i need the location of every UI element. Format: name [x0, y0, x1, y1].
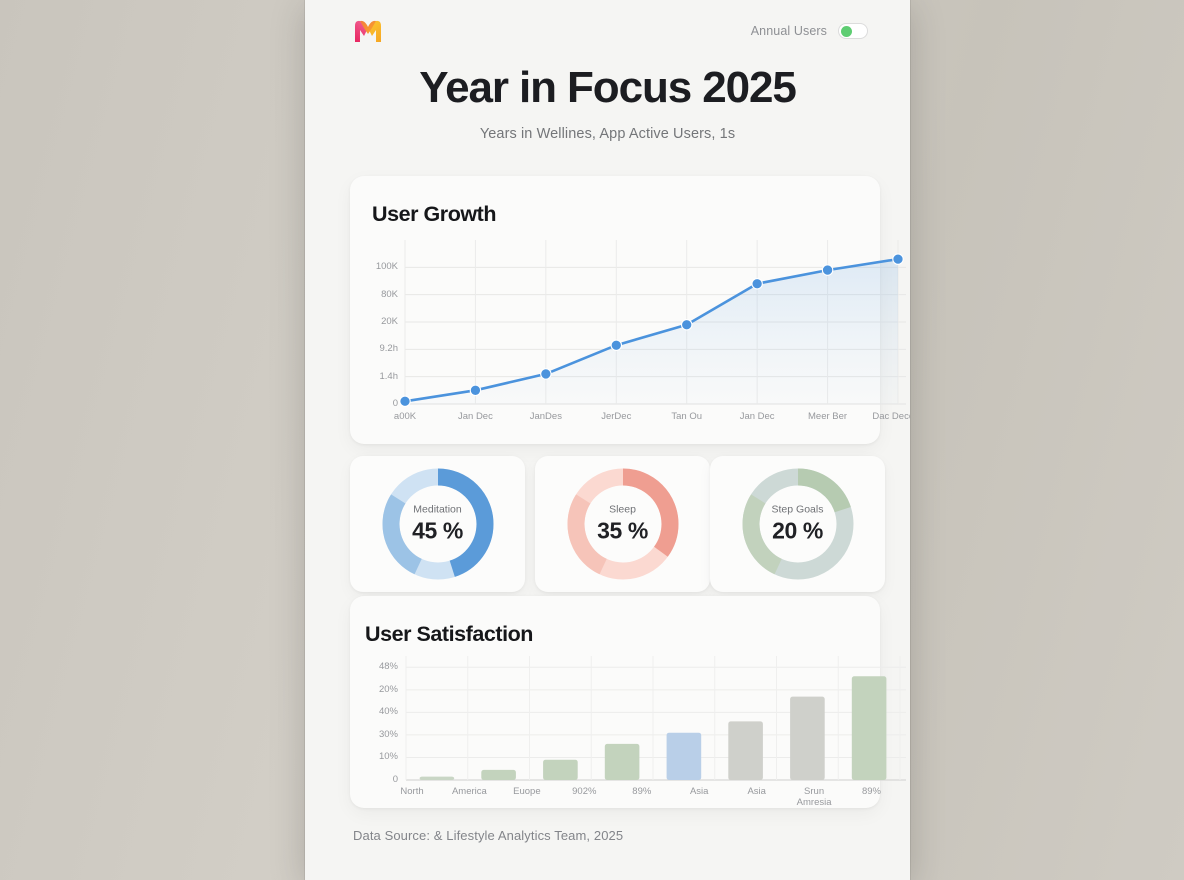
annual-users-switch[interactable] — [838, 23, 868, 39]
x-axis-tick: a00K — [394, 412, 416, 423]
area-fill — [405, 259, 898, 404]
x-axis-tick: 89% — [862, 787, 881, 798]
page-title: Year in Focus 2025 — [305, 62, 910, 114]
user-satisfaction-title: User Satisfaction — [365, 622, 533, 647]
x-axis-tick: Euope — [513, 787, 540, 798]
y-axis-tick: 10% — [358, 751, 398, 762]
donut-metrics-row: Meditation45 %Sleep35 %Step Goals20 % — [350, 456, 885, 592]
x-axis-tick: Asia — [690, 787, 708, 798]
y-axis-tick: 100K — [360, 261, 398, 272]
donut-ring: Step Goals20 % — [738, 464, 858, 584]
user-satisfaction-svg — [358, 652, 910, 802]
y-axis-tick: 48% — [358, 661, 398, 672]
donut-metric-name: Step Goals — [748, 504, 848, 516]
x-axis-tick: Dac Decctih — [872, 412, 910, 423]
y-axis-tick: 0 — [358, 774, 398, 785]
donut-center-label: Meditation45 % — [388, 504, 488, 545]
x-axis-tick: 89% — [632, 787, 651, 798]
x-axis-tick: Jan Dec — [740, 412, 775, 423]
bar[interactable] — [420, 777, 455, 780]
user-satisfaction-chart[interactable]: 48%20%40%30%10%0NorthAmericaEuope902%89%… — [358, 652, 910, 802]
top-bar: Annual Users — [305, 0, 910, 62]
user-satisfaction-card: User Satisfaction 48%20%40%30%10%0NorthA… — [350, 596, 880, 808]
data-point[interactable] — [400, 396, 410, 406]
report-page: Annual Users Year in Focus 2025 Years in… — [305, 0, 910, 880]
donut-ring: Sleep35 % — [563, 464, 683, 584]
donut-metric-value: 35 % — [573, 518, 673, 545]
annual-users-toggle-group[interactable]: Annual Users — [751, 23, 868, 39]
x-axis-tick: Meer Ber — [808, 412, 847, 423]
bar[interactable] — [481, 770, 516, 780]
y-axis-tick: 20K — [360, 316, 398, 327]
x-axis-tick: America — [452, 787, 487, 798]
bar[interactable] — [543, 760, 578, 780]
x-axis-tick: SrunAmresia — [797, 787, 832, 808]
donut-card[interactable]: Meditation45 % — [350, 456, 525, 592]
x-axis-tick: JerDec — [601, 412, 631, 423]
heading-block: Year in Focus 2025 Years in Wellines, Ap… — [305, 62, 910, 142]
data-point[interactable] — [611, 340, 621, 350]
x-axis-tick: Tan Ou — [671, 412, 702, 423]
x-axis-tick: North — [400, 787, 423, 798]
data-point[interactable] — [682, 320, 692, 330]
switch-knob — [841, 26, 852, 37]
x-axis-tick: JanDes — [530, 412, 562, 423]
bar[interactable] — [667, 733, 702, 780]
y-axis-tick: 80K — [360, 289, 398, 300]
page-subtitle: Years in Wellines, App Active Users, 1s — [305, 126, 910, 142]
user-growth-chart[interactable]: 100K80K20K9.2h1.4h0a00KJan DecJanDesJerD… — [360, 234, 910, 432]
data-point[interactable] — [470, 385, 480, 395]
bar[interactable] — [605, 744, 640, 780]
x-axis-tick: 902% — [572, 787, 596, 798]
donut-metric-value: 45 % — [388, 518, 488, 545]
x-axis-tick: Jan Dec — [458, 412, 493, 423]
user-growth-svg — [360, 234, 910, 432]
y-axis-tick: 0 — [360, 398, 398, 409]
y-axis-tick: 9.2h — [360, 343, 398, 354]
donut-metric-value: 20 % — [748, 518, 848, 545]
m-logo-icon[interactable] — [353, 18, 383, 44]
y-axis-tick: 1.4h — [360, 371, 398, 382]
y-axis-tick: 20% — [358, 684, 398, 695]
donut-metric-name: Sleep — [573, 504, 673, 516]
donut-center-label: Sleep35 % — [573, 504, 673, 545]
user-growth-title: User Growth — [372, 202, 496, 227]
donut-card[interactable]: Step Goals20 % — [710, 456, 885, 592]
bar[interactable] — [790, 697, 825, 780]
bar[interactable] — [728, 721, 763, 780]
donut-card[interactable]: Sleep35 % — [535, 456, 710, 592]
donut-ring: Meditation45 % — [378, 464, 498, 584]
data-point[interactable] — [752, 279, 762, 289]
data-point[interactable] — [541, 369, 551, 379]
data-point[interactable] — [893, 254, 903, 264]
y-axis-tick: 40% — [358, 706, 398, 717]
user-growth-card: User Growth 100K80K20K9.2h1.4h0a00KJan D… — [350, 176, 880, 444]
donut-metric-name: Meditation — [388, 504, 488, 516]
data-source-note: Data Source: & Lifestyle Analytics Team,… — [353, 828, 623, 843]
bar[interactable] — [852, 676, 887, 780]
y-axis-tick: 30% — [358, 729, 398, 740]
x-axis-tick: Asia — [747, 787, 765, 798]
donut-center-label: Step Goals20 % — [748, 504, 848, 545]
annual-users-label: Annual Users — [751, 24, 827, 38]
data-point[interactable] — [822, 265, 832, 275]
